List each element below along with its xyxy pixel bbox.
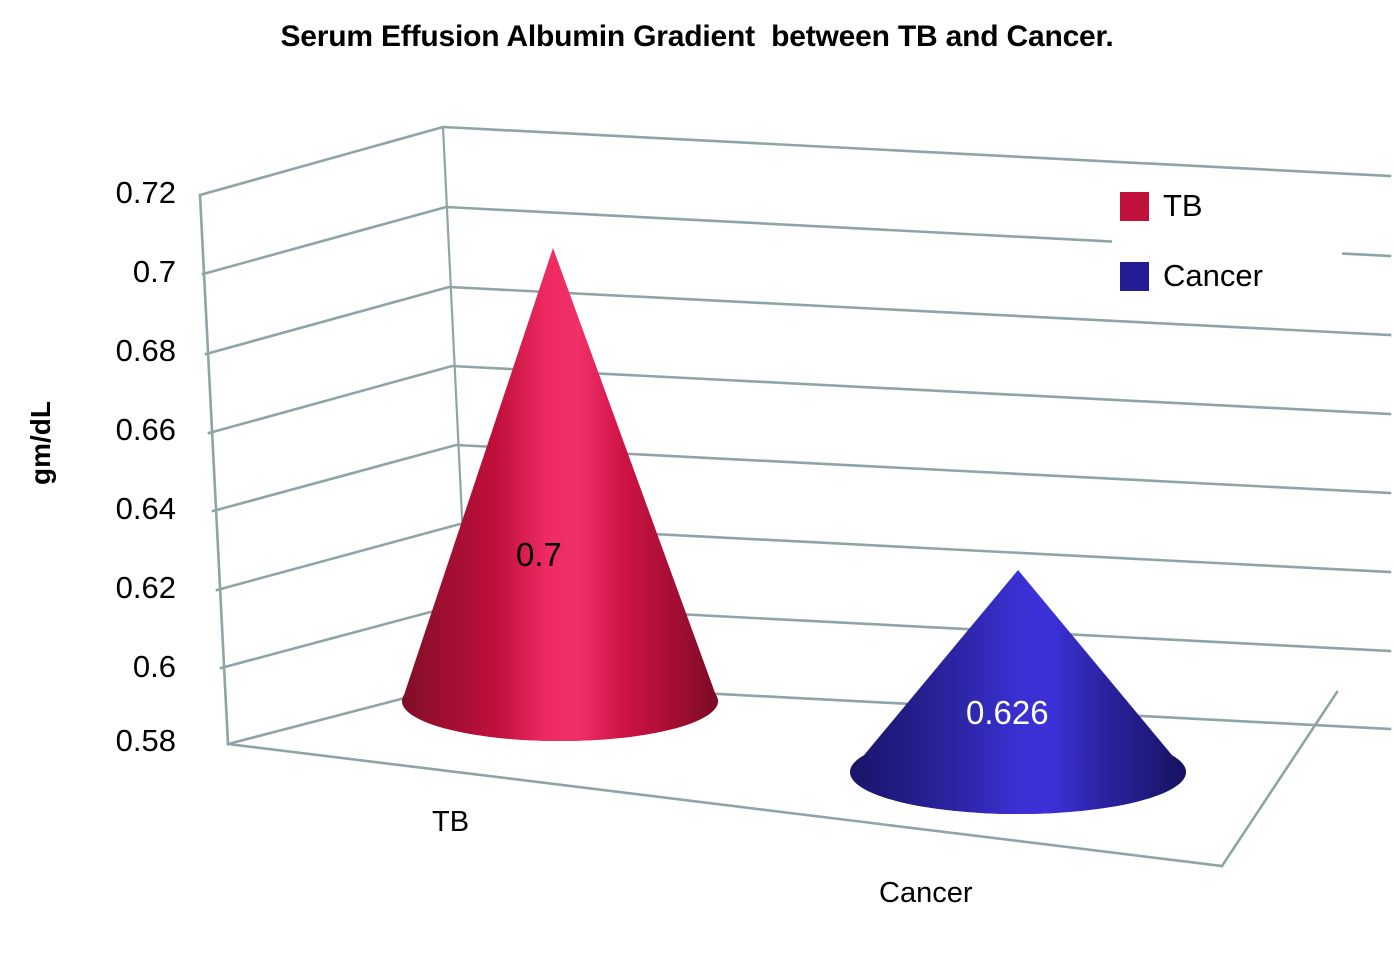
y-tick-2: 0.68 [76, 333, 176, 369]
y-tick-3: 0.66 [76, 412, 176, 448]
plot-area [0, 0, 1394, 954]
data-label-cancer: 0.626 [966, 694, 1049, 732]
y-tick-0: 0.72 [76, 175, 176, 211]
cone-tb [402, 248, 718, 741]
floor-plane [228, 692, 1390, 866]
legend-item-tb[interactable]: TB [1120, 188, 1203, 224]
x-category-tb: TB [432, 806, 469, 839]
x-category-cancer: Cancer [879, 877, 973, 910]
y-tick-7: 0.58 [76, 723, 176, 759]
y-tick-4: 0.64 [76, 491, 176, 527]
legend-swatch-cancer-icon [1120, 262, 1149, 291]
legend-label-tb: TB [1163, 188, 1203, 224]
legend-item-cancer[interactable]: Cancer [1120, 258, 1263, 294]
cone-cancer [850, 570, 1186, 814]
y-tick-6: 0.6 [76, 649, 176, 685]
y-tick-1: 0.7 [76, 254, 176, 290]
legend: TB Cancer [1112, 180, 1342, 310]
chart-container: Serum Effusion Albumin Gradient between … [0, 0, 1394, 954]
y-tick-5: 0.62 [76, 570, 176, 606]
legend-swatch-tb-icon [1120, 192, 1149, 221]
legend-label-cancer: Cancer [1163, 258, 1263, 294]
data-label-tb: 0.7 [516, 536, 562, 574]
